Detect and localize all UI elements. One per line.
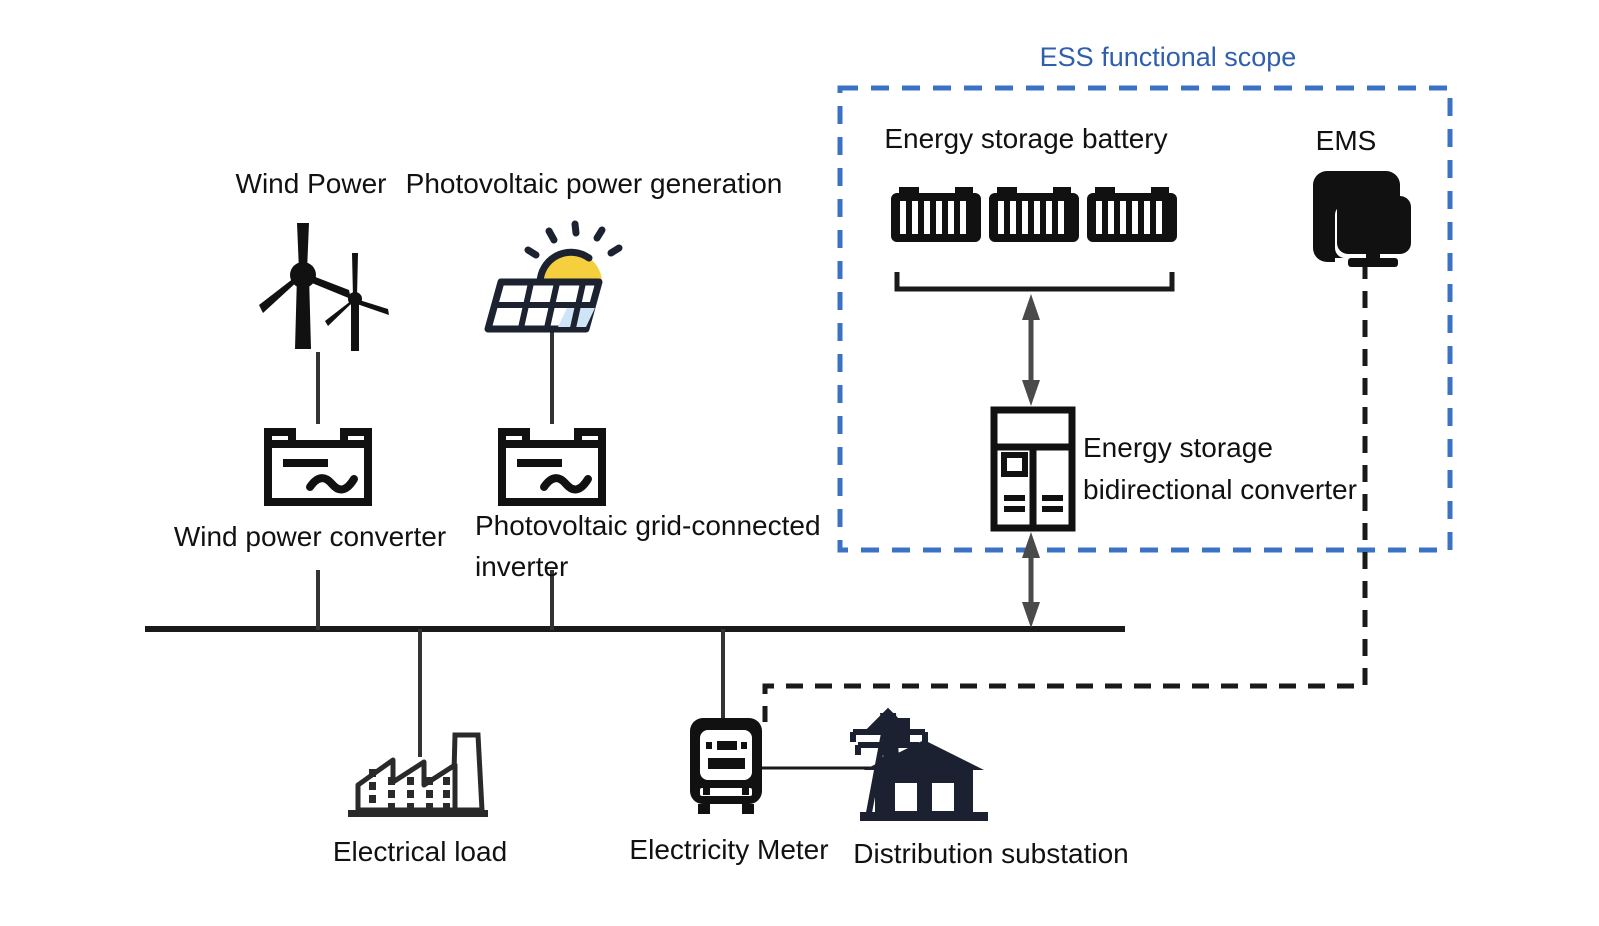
diagram-canvas: ESS functional scope Wind Power Photovol…	[0, 0, 1599, 926]
battery-bracket	[897, 272, 1172, 289]
transmission-tower-house-icon	[853, 712, 988, 821]
pv-generation-label: Photovoltaic power generation	[406, 166, 783, 202]
wind-converter-label: Wind power converter	[174, 519, 446, 555]
wind-converter-icon	[268, 432, 368, 502]
electricity-meter-icon	[690, 718, 762, 814]
pv-inverter-icon	[502, 432, 602, 502]
converter-bus-arrow	[1022, 532, 1040, 628]
computer-monitor-icon	[1313, 171, 1411, 267]
pv-inverter-label-line1: Photovoltaic grid-connected	[475, 508, 821, 544]
battery-converter-arrow	[1022, 294, 1040, 406]
electrical-load-label: Electrical load	[333, 834, 507, 870]
energy-storage-battery-label: Energy storage battery	[884, 121, 1167, 157]
bidirectional-converter-label-line1: Energy storage	[1083, 430, 1273, 466]
bidirectional-converter-label-line2: bidirectional converter	[1083, 472, 1357, 508]
distribution-substation-label: Distribution substation	[853, 836, 1128, 872]
electricity-meter-label: Electricity Meter	[629, 832, 828, 868]
battery-icon	[1087, 187, 1177, 242]
battery-icon	[989, 187, 1079, 242]
wind-power-label: Wind Power	[236, 166, 387, 202]
ess-scope-title: ESS functional scope	[1040, 40, 1297, 75]
battery-icon-group	[891, 187, 1177, 242]
wind-turbine-icon	[259, 223, 389, 351]
cabinet-icon	[994, 410, 1072, 528]
battery-icon	[891, 187, 981, 242]
solar-panel-icon	[488, 224, 619, 329]
ems-label: EMS	[1316, 123, 1377, 159]
pv-inverter-label-line2: inverter	[475, 549, 568, 585]
